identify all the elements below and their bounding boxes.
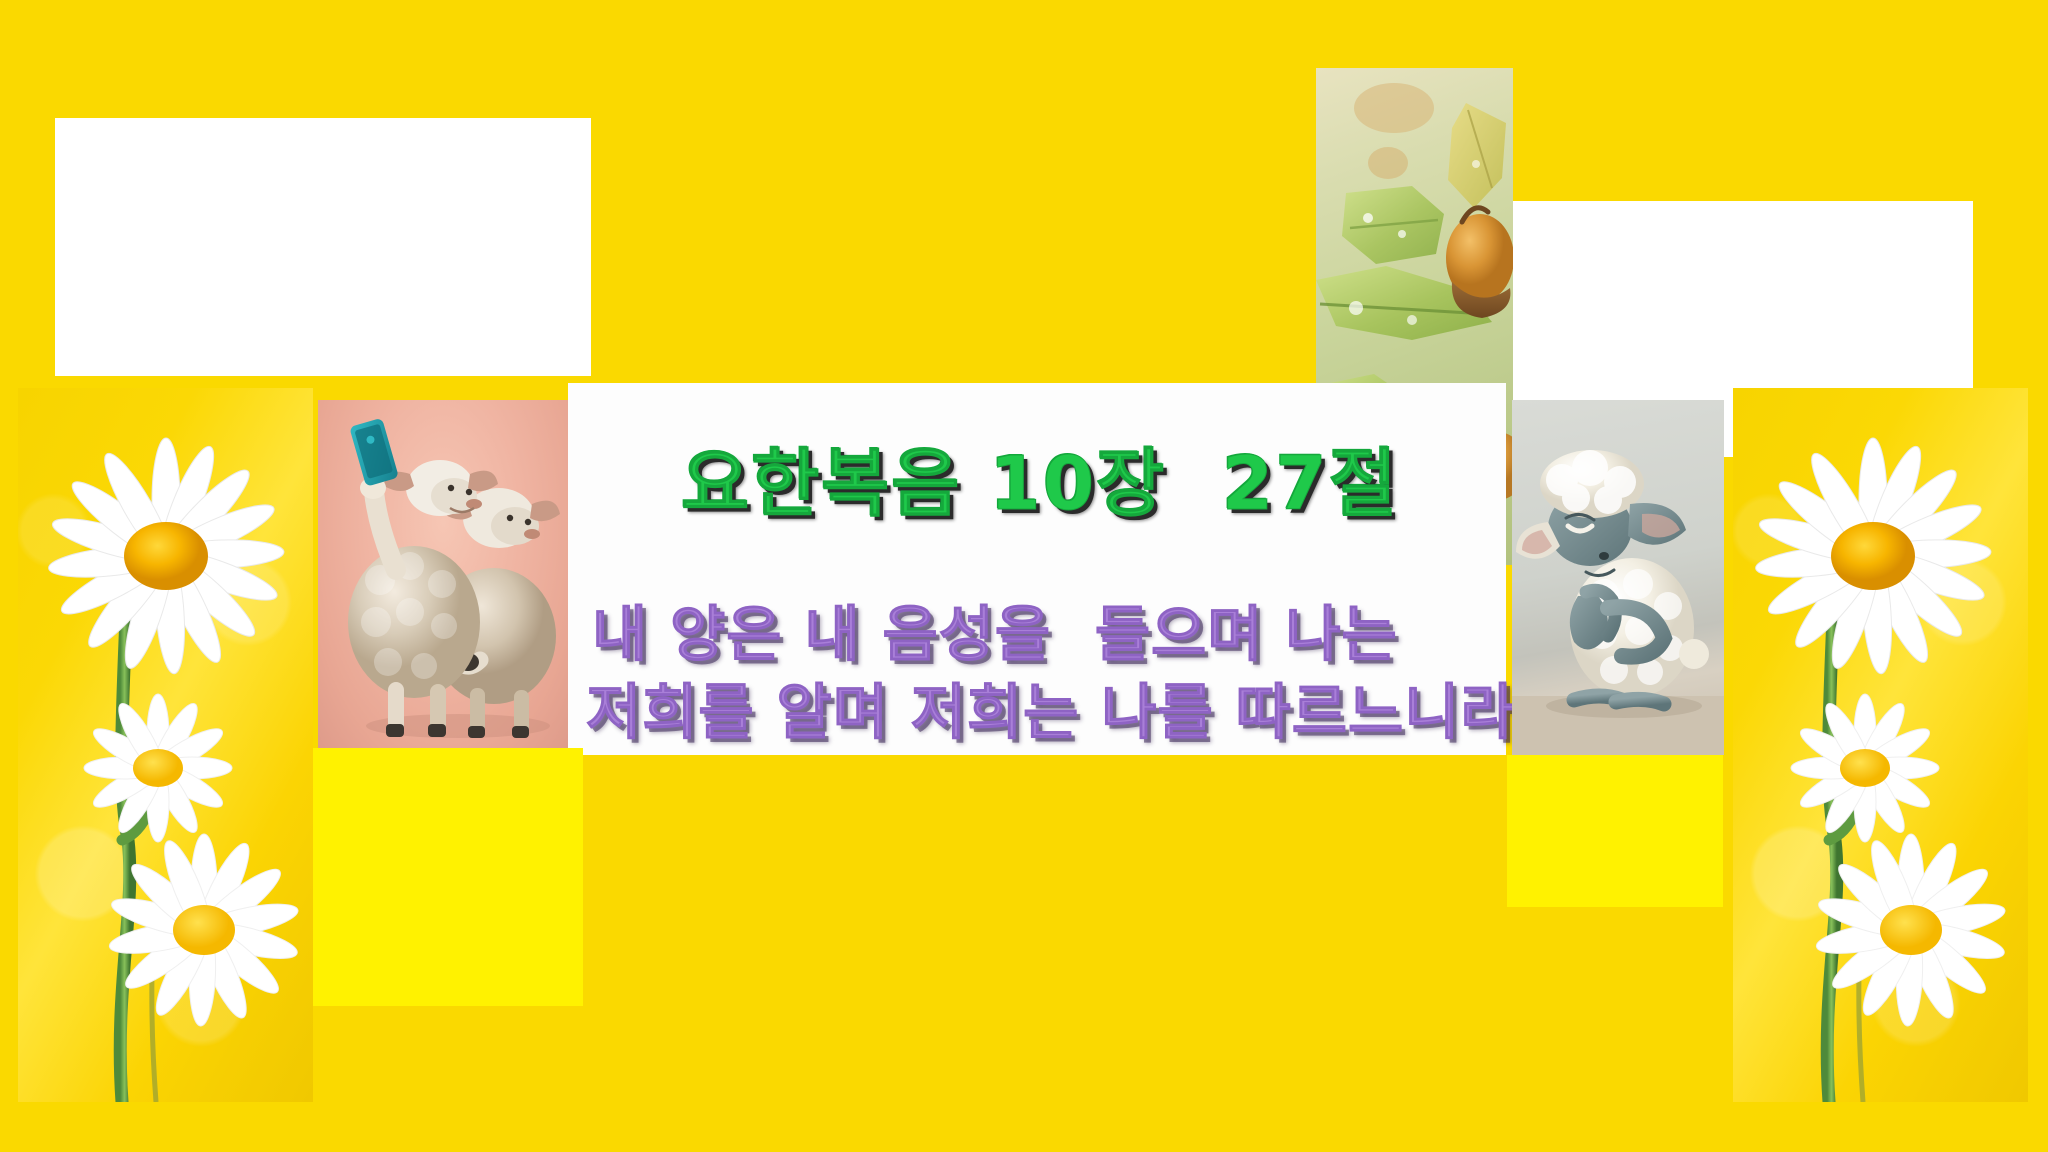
verse-body-line-2: 저희를 알며 저희는 나를 따르느니라: [586, 664, 1517, 751]
daisy-illustration-right: [1733, 388, 2028, 1102]
praying-sheep-illustration: [1512, 400, 1724, 755]
slide-canvas: 요한복음 10장 27절 내 양은 내 음성을 들으며 나는 저희를 알며 저희…: [0, 0, 2048, 1152]
verse-body-line-1: 내 양은 내 음성을 들으며 나는: [592, 586, 1398, 673]
daisy-flowers-right-image: [1733, 388, 2028, 1102]
verse-reference-title: 요한복음 10장 27절: [600, 424, 1480, 531]
daisy-flowers-left-image: [18, 388, 313, 1102]
praying-cartoon-sheep-image: [1512, 400, 1724, 755]
daisy-illustration-left: [18, 388, 313, 1102]
sheep-selfie-illustration: [318, 400, 568, 748]
bright-yellow-block-right: [1507, 755, 1723, 907]
bright-yellow-block-left: [313, 748, 583, 1006]
blank-white-panel-top-left: [55, 118, 591, 376]
two-sheep-taking-selfie-image: [318, 400, 568, 748]
